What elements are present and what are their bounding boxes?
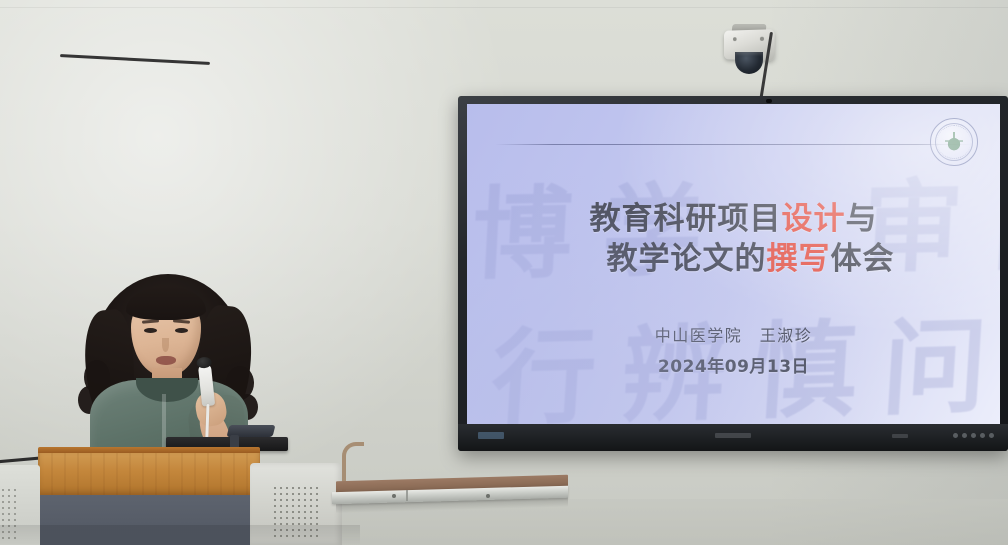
security-camera-icon (718, 24, 780, 80)
slide-title: 教育科研项目设计与 教学论文的撰写体会 (467, 200, 1000, 279)
title-line1-part2: 与 (846, 201, 878, 237)
slide-header-rule (495, 144, 974, 145)
title-line2-accent: 撰写 (767, 241, 831, 277)
lecture-hall-photo: 博学 审问 行辨慎问学 教育科研项目设计与 教学论文的撰写体会 中山医学院 王淑… (0, 0, 1008, 545)
camera-screw (760, 37, 764, 41)
podium-wood-panel (38, 453, 260, 495)
slide-title-line-2: 教学论文的撰写体会 (467, 240, 1000, 280)
display-source-button[interactable] (980, 433, 985, 438)
camera-screw (733, 37, 737, 41)
eye-left (144, 328, 157, 333)
display-sensor-icon (766, 99, 772, 103)
eye-right (175, 328, 188, 333)
nose (162, 338, 169, 352)
title-line1-part1: 教育科研项目 (590, 201, 782, 237)
slide-date: 2024年09月13日 (467, 352, 1000, 377)
mouth (156, 356, 176, 365)
seal-ring (937, 125, 971, 159)
university-seal-icon (930, 118, 978, 166)
interactive-display[interactable]: 博学 审问 行辨慎问学 教育科研项目设计与 教学论文的撰写体会 中山医学院 王淑… (458, 96, 1008, 451)
display-brand-logo-icon (478, 432, 504, 439)
display-brand-text (715, 433, 751, 438)
microphone-head (196, 356, 212, 369)
title-line2-part2: 体会 (831, 241, 895, 277)
display-control-bar[interactable] (458, 424, 1008, 451)
slide-subtitle-block: 中山医学院 王淑珍 2024年09月13日 (467, 322, 1000, 377)
rail-seam (406, 490, 408, 501)
title-line2-part1: 教学论文的 (607, 241, 767, 277)
camera-dome-lens (735, 52, 763, 74)
display-menu-button[interactable] (989, 433, 994, 438)
display-power-button[interactable] (953, 433, 958, 438)
display-volume-down-button[interactable] (962, 433, 967, 438)
display-volume-up-button[interactable] (971, 433, 976, 438)
presentation-slide: 博学 审问 行辨慎问学 教育科研项目设计与 教学论文的撰写体会 中山医学院 王淑… (467, 104, 1000, 424)
display-model-label (892, 434, 908, 438)
title-line1-accent: 设计 (782, 201, 846, 237)
podium-floor-shadow (0, 525, 360, 545)
side-table (336, 478, 568, 516)
slide-presenter-affiliation: 中山医学院 王淑珍 (467, 322, 1000, 346)
display-button-group[interactable] (953, 433, 994, 438)
seal-emblem (945, 133, 963, 151)
slide-title-line-1: 教育科研项目设计与 (590, 201, 878, 237)
